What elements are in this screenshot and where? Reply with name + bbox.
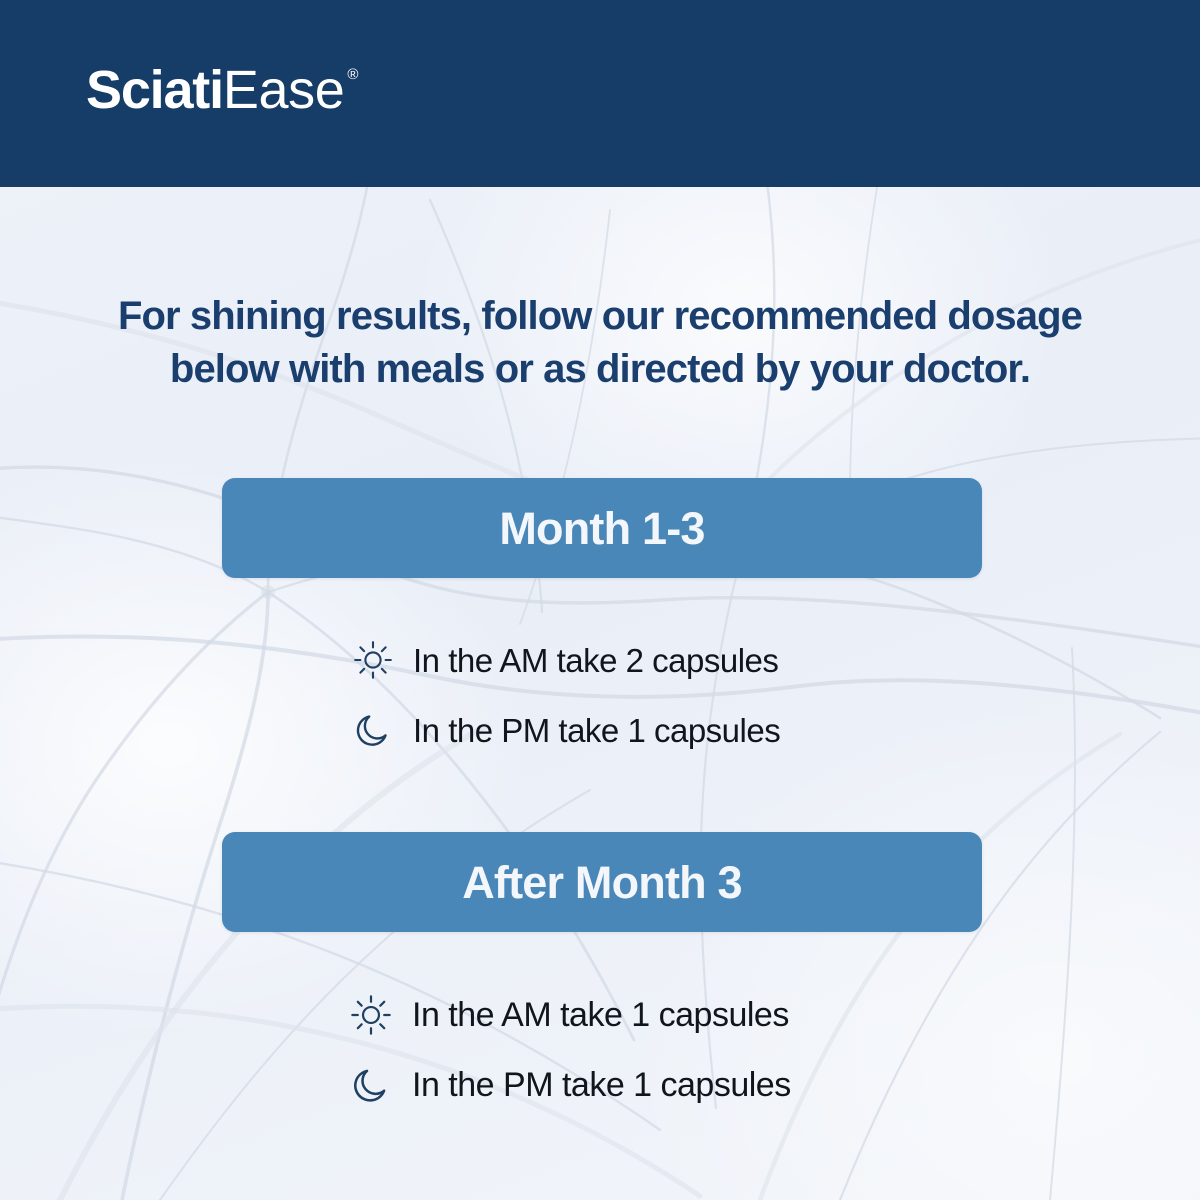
registered-trademark-icon: ® <box>347 67 358 82</box>
page-title: For shining results, follow our recommen… <box>60 290 1140 396</box>
dosage-text: In the AM take 2 capsules <box>413 644 778 677</box>
dosage-block-month-1-3: Month 1-3 <box>222 478 982 765</box>
dosage-row-pm: In the PM take 1 capsules <box>348 1050 982 1120</box>
headline-line-1: For shining results, follow our recommen… <box>60 290 1140 343</box>
dosage-row-am: In the AM take 2 capsules <box>351 625 982 695</box>
brand-header: Sciati Ease ® <box>0 0 1200 187</box>
dosage-block-after-month-3: After Month 3 <box>222 832 982 1120</box>
banner-label: After Month 3 <box>462 860 742 905</box>
headline-line-2: below with meals or as directed by your … <box>60 343 1140 396</box>
logo-text-bold: Sciati <box>86 63 223 117</box>
moon-icon <box>348 1062 394 1108</box>
logo-text-light: Ease <box>223 63 344 117</box>
dosage-text: In the PM take 1 capsules <box>413 714 780 747</box>
dosage-text: In the PM take 1 capsules <box>412 1068 791 1102</box>
sun-icon <box>351 638 395 682</box>
dosage-row-am: In the AM take 1 capsules <box>348 980 982 1050</box>
dosage-list-month-1-3: In the AM take 2 capsules In the PM take… <box>222 625 982 765</box>
moon-icon <box>351 708 395 752</box>
sun-icon <box>348 992 394 1038</box>
dosage-text: In the AM take 1 capsules <box>412 998 789 1032</box>
dosage-banner-after-month-3: After Month 3 <box>222 832 982 932</box>
dosage-instruction-card: Sciati Ease ® For shining results, follo… <box>0 0 1200 1200</box>
main-content: For shining results, follow our recommen… <box>0 187 1200 1200</box>
banner-label: Month 1-3 <box>499 506 704 551</box>
dosage-row-pm: In the PM take 1 capsules <box>351 695 982 765</box>
brand-logo[interactable]: Sciati Ease ® <box>86 63 358 117</box>
dosage-list-after-month-3: In the AM take 1 capsules In the PM take… <box>222 980 982 1120</box>
dosage-banner-month-1-3: Month 1-3 <box>222 478 982 578</box>
